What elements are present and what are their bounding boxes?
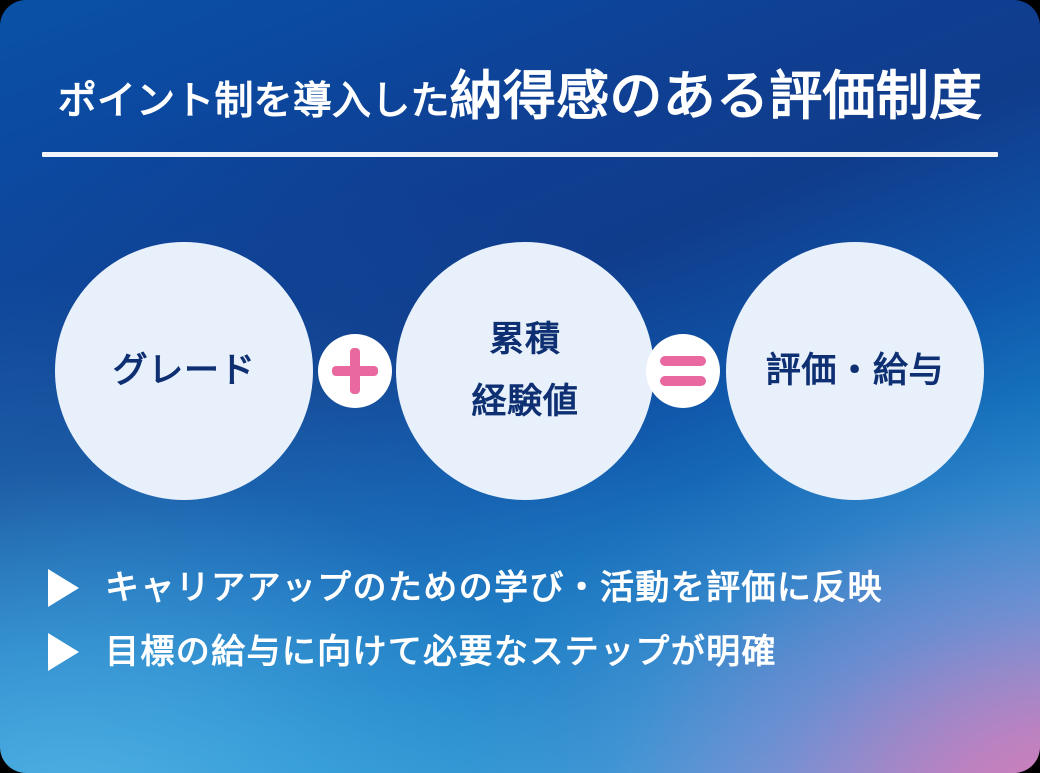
list-item: キャリアアップのための学び・活動を評価に反映	[48, 560, 1008, 616]
list-item-label: キャリアアップのための学び・活動を評価に反映	[105, 568, 883, 609]
plus-glyph	[332, 348, 378, 394]
bubble-grade-label: グレード	[113, 351, 256, 391]
triangle-right-icon	[48, 633, 79, 671]
bubble-cumulative-line-1: 累積	[489, 320, 560, 360]
title-emphasis-text: 納得感のある評価制度	[450, 70, 983, 123]
page-title: ポイント制を導入した 納得感のある評価制度	[42, 70, 998, 123]
list-item: 目標の給与に向けて必要なステップが明確	[48, 624, 1008, 680]
bubble-evaluation-salary-label: 評価・給与	[766, 351, 945, 391]
title-line: ポイント制を導入した 納得感のある評価制度	[42, 70, 998, 123]
bubble-evaluation-salary: 評価・給与	[726, 242, 984, 500]
plus-icon	[318, 334, 392, 408]
benefit-list: キャリアアップのための学び・活動を評価に反映 目標の給与に向けて必要なステップが…	[48, 560, 1008, 688]
bubble-grade: グレード	[55, 242, 313, 500]
list-item-label: 目標の給与に向けて必要なステップが明確	[105, 632, 777, 673]
equals-glyph	[660, 356, 706, 386]
title-lead-text: ポイント制を導入した	[58, 82, 450, 121]
formula-diagram: グレード 累積 経験値 評価・給与	[0, 242, 1040, 502]
bubble-cumulative-experience: 累積 経験値	[396, 242, 654, 500]
slide-canvas: ポイント制を導入した 納得感のある評価制度 グレード 累積 経験値 評価・給与 …	[0, 0, 1040, 773]
equals-icon	[646, 334, 720, 408]
triangle-right-icon	[48, 569, 79, 607]
bubble-cumulative-line-2: 経験値	[471, 382, 578, 422]
title-underline-divider	[42, 152, 998, 157]
